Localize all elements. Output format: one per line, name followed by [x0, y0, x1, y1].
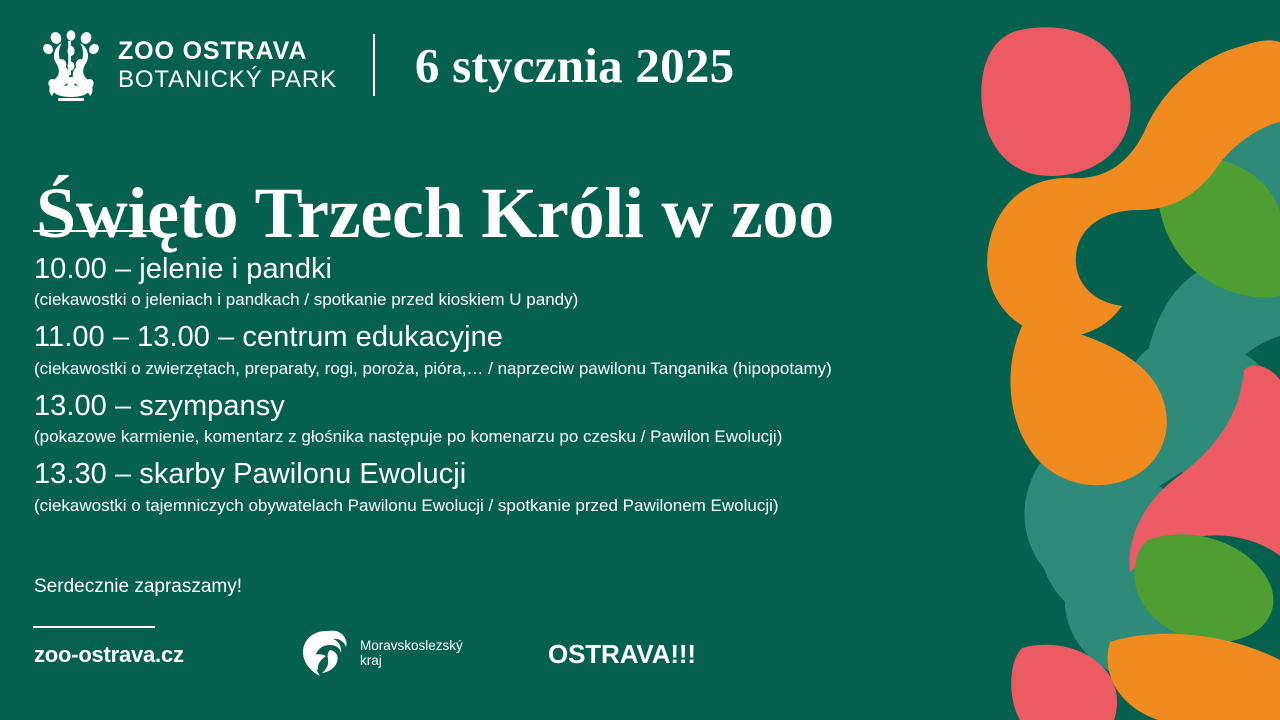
moravskoslezsky-kraj-logo: Moravskoslezský kraj	[300, 630, 463, 678]
moravskoslezsky-kraj-mark-icon	[300, 630, 352, 678]
programme-item: 11.00 – 13.00 – centrum edukacyjne (ciek…	[34, 320, 1084, 379]
green-leaf-lower-shape	[1134, 534, 1273, 642]
zoo-logo-line2: BOTANICKÝ PARK	[118, 68, 337, 92]
poster-header: ZOO OSTRAVA BOTANICKÝ PARK 6 stycznia 20…	[40, 25, 734, 105]
teal-bottom-shape	[1065, 555, 1220, 684]
event-poster: ZOO OSTRAVA BOTANICKÝ PARK 6 stycznia 20…	[0, 0, 1280, 720]
programme-list: 10.00 – jelenie i pandki (ciekawostki o …	[34, 252, 1084, 526]
programme-item: 13.30 – skarby Pawilonu Ewolucji (ciekaw…	[34, 457, 1084, 516]
ostrava-city-logo: OSTRAVA!!!	[548, 639, 696, 670]
programme-item-details: (ciekawostki o tajemniczych obywatelach …	[34, 495, 1084, 517]
programme-item-details: (ciekawostki o zwierzętach, preparaty, r…	[34, 358, 1084, 380]
programme-item-details: (pokazowe karmienie, komentarz z głośnik…	[34, 426, 1084, 448]
event-date: 6 stycznia 2025	[415, 37, 734, 94]
teal-blob-shape	[1126, 340, 1280, 476]
programme-item-title: 13.00 – szympansy	[34, 389, 1084, 424]
zoo-tree-emblem-icon	[40, 29, 102, 101]
coral-flame-shape	[1129, 365, 1280, 572]
programme-item-title: 10.00 – jelenie i pandki	[34, 252, 1084, 287]
programme-item: 13.00 – szympansy (pokazowe karmienie, k…	[34, 389, 1084, 448]
teal-swirl-shape	[1216, 105, 1280, 286]
programme-item-details: (ciekawostki o jeleniach i pandkach / sp…	[34, 289, 1084, 311]
zoo-logo-wordmark: ZOO OSTRAVA BOTANICKÝ PARK	[118, 39, 337, 92]
zoo-logo-line1: ZOO OSTRAVA	[118, 39, 337, 64]
page-title: Święto Trzech Króli w zoo	[36, 173, 834, 254]
coral-leaf-top-shape	[981, 27, 1130, 176]
closing-invitation-text: Serdecznie zapraszamy!	[34, 576, 242, 598]
poster-footer: zoo-ostrava.cz Moravskoslezský kraj OSTR…	[34, 634, 1050, 682]
green-leaf-upper-shape	[1158, 156, 1280, 297]
programme-item: 10.00 – jelenie i pandki (ciekawostki o …	[34, 252, 1084, 311]
orange-bottom-leaf-shape	[1108, 634, 1280, 720]
partner-region-line2: kraj	[360, 654, 463, 669]
moravskoslezsky-kraj-wordmark: Moravskoslezský kraj	[360, 639, 463, 668]
divider-above-programme	[33, 230, 155, 232]
header-vertical-divider	[373, 34, 375, 96]
programme-item-title: 11.00 – 13.00 – centrum edukacyjne	[34, 320, 1084, 355]
divider-above-footer	[33, 626, 155, 628]
partner-region-line1: Moravskoslezský	[360, 639, 463, 654]
programme-item-title: 13.30 – skarby Pawilonu Ewolucji	[34, 457, 1084, 492]
website-url[interactable]: zoo-ostrava.cz	[34, 642, 184, 668]
